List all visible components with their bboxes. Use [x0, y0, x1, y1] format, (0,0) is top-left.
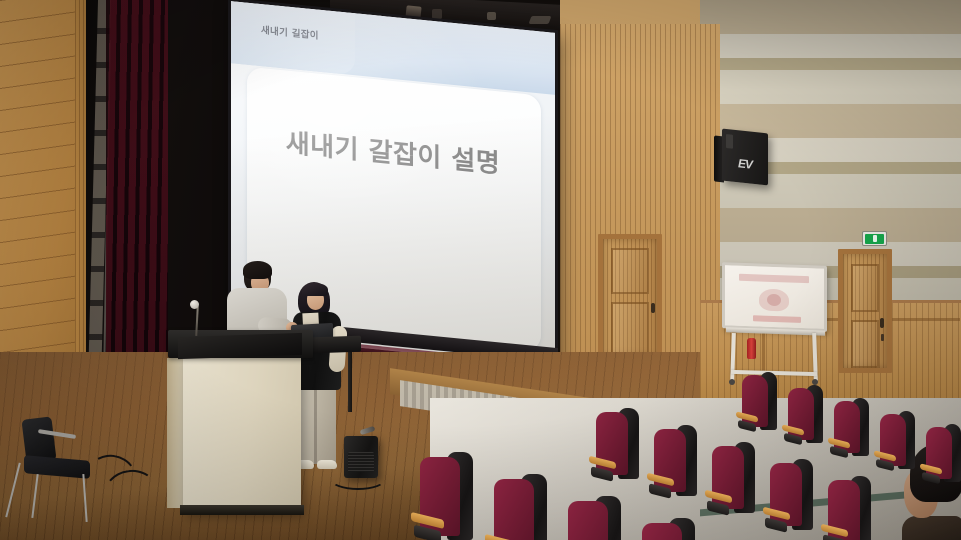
stage-light-icon	[529, 16, 552, 24]
presenter-right-bangs	[302, 283, 328, 296]
auditorium-scene: EV 새내기 길잡이 새내기 갈잡이 설명	[0, 0, 961, 540]
exit-sign	[862, 231, 887, 246]
fire-extinguisher-icon	[747, 338, 756, 359]
amplifier-cable	[330, 468, 386, 490]
podium-monitor[interactable]	[178, 333, 302, 359]
whiteboard-caster-icon	[729, 379, 735, 385]
auditorium-seat[interactable]	[642, 523, 682, 540]
slide-content-card	[247, 67, 541, 352]
audience-shoulder	[902, 516, 961, 540]
door-handle-icon[interactable]	[651, 303, 655, 313]
wall-speaker: EV	[722, 129, 768, 186]
door-panel	[611, 302, 649, 356]
door-lock-icon[interactable]	[881, 334, 884, 341]
presenter-right-shoe	[317, 460, 337, 469]
speaker-port-icon	[726, 134, 733, 149]
running-man-icon	[873, 235, 877, 242]
whiteboard[interactable]	[722, 262, 827, 332]
exit-sign-icon	[865, 234, 884, 244]
exit-door-right[interactable]	[838, 249, 892, 373]
door-panel	[851, 264, 879, 312]
whiteboard-drawing	[767, 294, 781, 306]
door-panel	[851, 320, 879, 368]
door-handle-icon[interactable]	[880, 318, 884, 328]
stage-door-left[interactable]	[598, 234, 662, 361]
presenter-left-hair	[243, 261, 272, 279]
auditorium-seat[interactable]	[494, 479, 534, 540]
auditorium-seat[interactable]	[568, 501, 608, 540]
table-leg	[348, 352, 352, 412]
presenter-right-pants	[296, 386, 336, 464]
podium-base	[180, 505, 304, 515]
speaker-brand-label: EV	[738, 156, 752, 171]
stage-light-icon	[487, 12, 496, 20]
microphone-icon[interactable]	[190, 300, 199, 309]
door-panel	[611, 248, 649, 294]
podium: 한밭대학교 HANBAT UNIVERSITY	[183, 355, 301, 513]
